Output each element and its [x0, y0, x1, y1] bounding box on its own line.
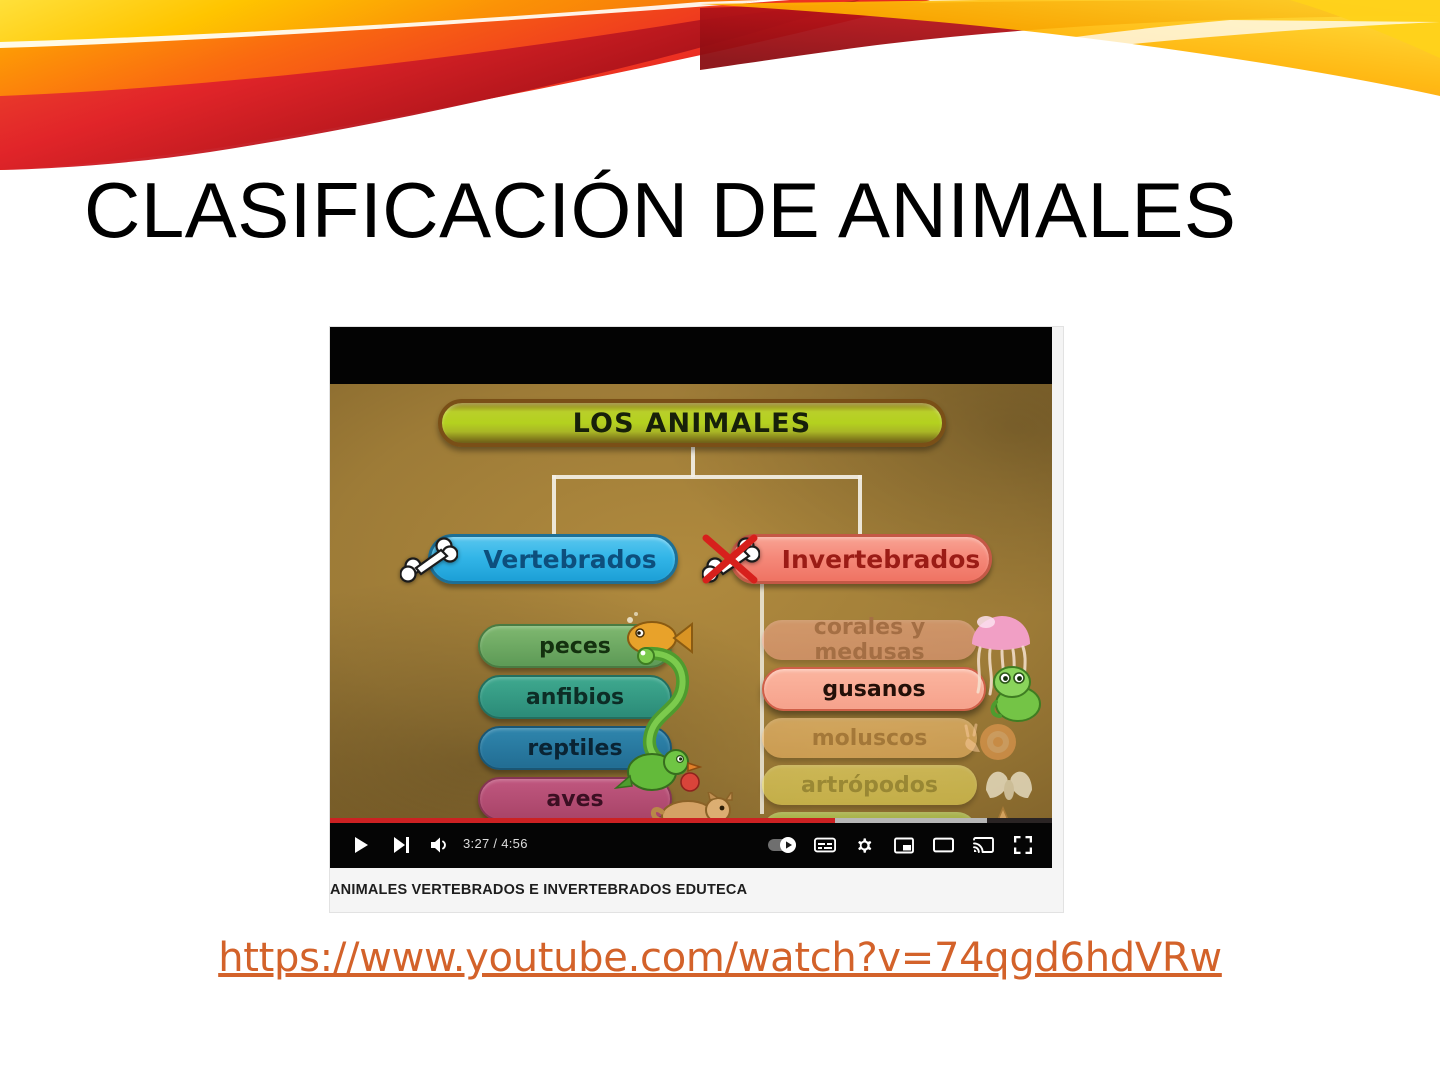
- list-item-label: anfibios: [480, 685, 670, 710]
- connector-vertical-left: [552, 475, 556, 537]
- volume-button[interactable]: [426, 830, 456, 860]
- red-cross-icon: [698, 530, 764, 588]
- play-button[interactable]: [346, 830, 376, 860]
- list-item-aves: aves: [478, 777, 672, 821]
- invertebrates-list: corales y medusas gusanos moluscos artró…: [762, 620, 986, 832]
- list-item-corales-y-medusas: corales y medusas: [762, 620, 977, 660]
- video-url-link[interactable]: https://www.youtube.com/watch?v=74qgd6hd…: [0, 935, 1440, 981]
- video-player[interactable]: LOS ANIMALES Vertebrados Invertebrados: [330, 327, 1052, 868]
- cast-button[interactable]: [968, 830, 998, 860]
- diagram-branch-invertebrados: Invertebrados: [730, 534, 992, 584]
- settings-button[interactable]: [849, 830, 879, 860]
- video-caption-text: ANIMALES VERTEBRADOS E INVERTEBRADOS EDU…: [330, 882, 747, 898]
- fullscreen-icon: [1014, 836, 1032, 854]
- video-letterbox: [330, 327, 1052, 384]
- fullscreen-button[interactable]: [1008, 830, 1038, 860]
- list-item-label: reptiles: [480, 736, 670, 761]
- diagram-root-los-animales: LOS ANIMALES: [438, 399, 946, 447]
- arthropod-doodle: [978, 764, 1040, 806]
- connector-vertical-root: [691, 447, 695, 477]
- subtitles-button[interactable]: [810, 830, 840, 860]
- list-item-anfibios: anfibios: [478, 675, 672, 719]
- settings-gear-icon: [855, 836, 874, 855]
- vertebrates-list: peces anfibios reptiles aves mamíferos: [478, 624, 672, 832]
- miniplayer-button[interactable]: [889, 830, 919, 860]
- theater-mode-icon: [933, 837, 954, 853]
- list-item-label: peces: [480, 634, 670, 659]
- diagram-branch-vertebrados: Vertebrados: [428, 534, 678, 584]
- list-item-artropodos: artrópodos: [762, 765, 977, 805]
- subtitles-icon: [814, 837, 836, 853]
- list-item-label: gusanos: [764, 677, 984, 702]
- miniplayer-icon: [894, 837, 914, 854]
- list-item-label: artrópodos: [762, 773, 977, 798]
- next-video-icon: [392, 836, 411, 854]
- progress-bar[interactable]: [330, 818, 1052, 823]
- volume-icon: [430, 836, 452, 854]
- list-item-gusanos: gusanos: [762, 667, 986, 711]
- video-diagram: LOS ANIMALES Vertebrados Invertebrados: [330, 382, 1052, 832]
- list-item-label: corales y medusas: [762, 615, 977, 665]
- decorative-swoosh: [0, 0, 1440, 170]
- cast-icon: [973, 837, 994, 854]
- worm-doodle: [984, 664, 1046, 724]
- list-item-label: aves: [480, 787, 670, 812]
- next-video-button[interactable]: [386, 830, 416, 860]
- video-caption-strip: ANIMALES VERTEBRADOS E INVERTEBRADOS EDU…: [330, 868, 1063, 912]
- list-item-reptiles: reptiles: [478, 726, 672, 770]
- player-control-bar: 3:27 / 4:56: [330, 822, 1052, 868]
- video-card: LOS ANIMALES Vertebrados Invertebrados: [330, 327, 1063, 912]
- play-icon: [353, 836, 370, 854]
- bone-icon: [400, 534, 458, 584]
- autoplay-toggle-icon: [768, 837, 796, 853]
- autoplay-toggle[interactable]: [767, 830, 797, 860]
- page-title: CLASIFICACIÓN DE ANIMALES: [84, 163, 1364, 257]
- connector-vertical-right: [858, 475, 862, 537]
- list-item-label: moluscos: [762, 726, 977, 751]
- list-item-moluscos: moluscos: [762, 718, 977, 758]
- progress-played: [330, 818, 835, 823]
- theater-mode-button[interactable]: [928, 830, 958, 860]
- connector-horizontal: [552, 475, 862, 479]
- list-item-peces: peces: [478, 624, 672, 668]
- time-display: 3:27 / 4:56: [463, 836, 528, 851]
